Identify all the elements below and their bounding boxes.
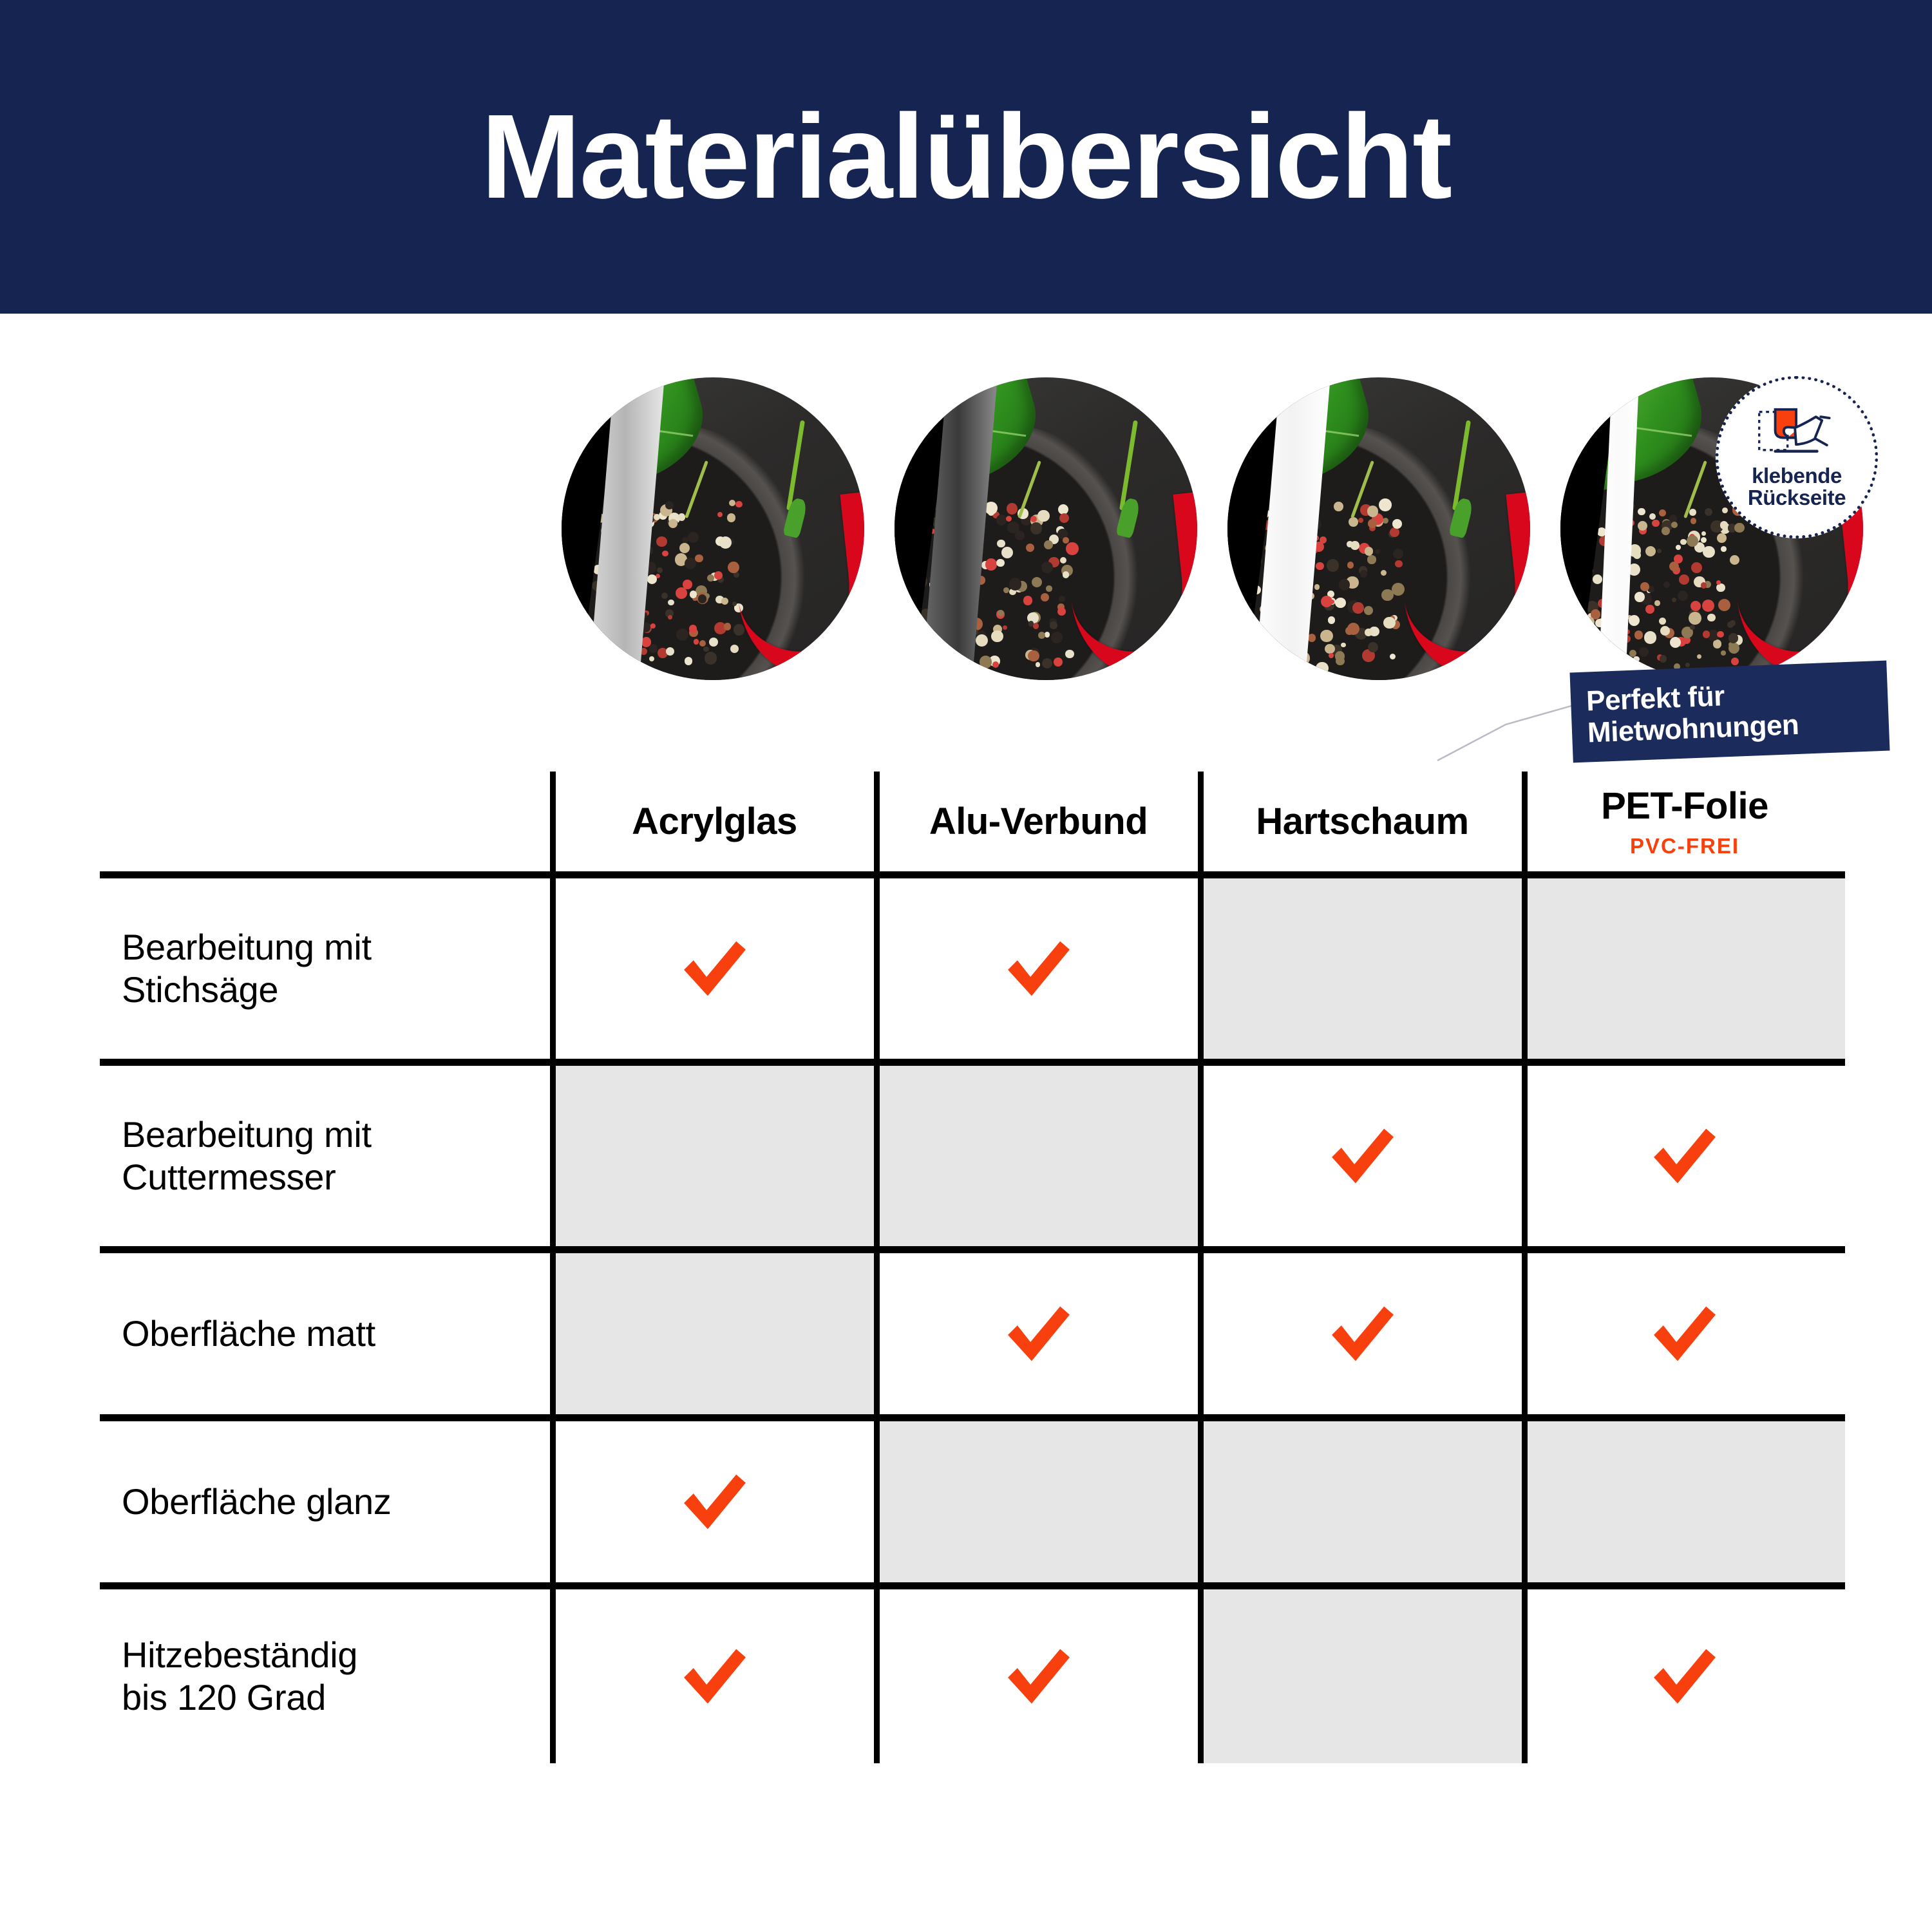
peppercorn <box>1030 522 1043 535</box>
peppercorn <box>1671 522 1678 528</box>
material-overview-page: Materialübersicht <box>0 0 1932 1932</box>
peppercorn <box>1003 587 1009 593</box>
table-divider <box>100 1414 1845 1421</box>
peppercorn <box>1336 657 1344 665</box>
table-row: Hitzebeständigbis 120 Grad <box>100 1589 1845 1763</box>
peppercorn <box>1690 625 1695 630</box>
peppercorn <box>1703 546 1714 558</box>
cell-r4-c3 <box>1200 1421 1524 1582</box>
peppercorn <box>665 501 674 509</box>
column-divider <box>1522 772 1528 1763</box>
peppercorn <box>1054 658 1063 667</box>
peppercorn <box>1051 632 1063 643</box>
peppercorn <box>1690 601 1701 611</box>
thumbnail-alu-verbund[interactable] <box>895 377 1197 680</box>
column-header-1: Acrylglas <box>553 772 876 871</box>
cell-r1-c4 <box>1524 878 1845 1059</box>
peppercorn <box>1585 649 1590 654</box>
peppercorn <box>1383 617 1395 629</box>
table-row: Oberfläche glanz <box>100 1421 1845 1582</box>
peppercorn <box>1721 546 1727 552</box>
header-corner-cell <box>100 772 553 871</box>
peppercorn <box>1365 547 1374 556</box>
peppercorn <box>1033 623 1039 629</box>
row-label-cell: Bearbeitung mitStichsäge <box>100 878 553 1059</box>
row-label-cell: Oberfläche matt <box>100 1253 553 1414</box>
peppercorn <box>1663 582 1670 588</box>
peppercorn <box>1365 629 1372 636</box>
peppercorn <box>1702 600 1714 612</box>
cell-r4-c4 <box>1524 1421 1845 1582</box>
peppercorn <box>1334 502 1343 511</box>
peppercorn <box>1685 663 1690 668</box>
peppercorn <box>647 574 657 584</box>
peppercorn <box>1705 508 1712 516</box>
peppercorn <box>1320 536 1327 544</box>
peppercorn <box>1639 647 1649 657</box>
peppercorn <box>996 559 1004 567</box>
peppercorn <box>732 601 737 606</box>
table-row: Oberfläche matt <box>100 1253 1845 1414</box>
cell-r5-c2 <box>876 1589 1200 1763</box>
peppercorn <box>1640 582 1649 591</box>
peppercorn <box>1717 533 1727 543</box>
peppercorn <box>699 640 706 647</box>
peppercorn <box>1634 630 1643 639</box>
peppercorn <box>1649 513 1656 520</box>
thumbnail-hartschaum[interactable] <box>1227 377 1530 680</box>
peppercorn <box>1316 662 1329 674</box>
peppercorn <box>1717 631 1723 638</box>
peppercorn <box>1327 559 1340 572</box>
cell-r1-c1 <box>553 878 876 1059</box>
peppercorn <box>1689 509 1696 515</box>
check-icon <box>1647 1296 1723 1372</box>
peppercorn <box>1023 596 1033 605</box>
peppercorn <box>1314 584 1320 590</box>
peppercorn <box>1352 602 1364 614</box>
peppercorn <box>1674 554 1683 563</box>
peppercorn <box>1335 598 1345 608</box>
peppercorn <box>707 574 714 582</box>
peppercorn <box>1701 531 1706 536</box>
peppercorn <box>1703 630 1710 638</box>
peppercorn <box>1690 518 1696 524</box>
check-icon <box>1001 1638 1077 1714</box>
peppercorn <box>1657 549 1662 553</box>
check-icon <box>1001 931 1077 1007</box>
peppercorn <box>654 514 660 520</box>
row-label-cell: Oberfläche glanz <box>100 1421 553 1582</box>
peppercorn <box>679 543 690 553</box>
row-label: Bearbeitung mitCuttermesser <box>122 1113 372 1198</box>
cell-r5-c4 <box>1524 1589 1845 1763</box>
peppercorn <box>991 630 1003 642</box>
row-label: Hitzebeständigbis 120 Grad <box>122 1634 357 1719</box>
peppercorn <box>694 639 699 645</box>
peppercorn <box>1028 650 1039 662</box>
column-divider <box>874 772 880 1763</box>
badge-line-2: Rückseite <box>1748 487 1846 509</box>
cell-r5-c3 <box>1200 1589 1524 1763</box>
peppercorn <box>1041 593 1049 601</box>
table-divider <box>100 1582 1845 1589</box>
peppercorn <box>1679 574 1689 585</box>
peppercorn <box>661 592 668 599</box>
peppercorn <box>1638 508 1645 516</box>
peppercorn <box>1582 659 1590 667</box>
peppercorn <box>1364 606 1373 615</box>
peppercorn <box>1329 653 1334 658</box>
check-icon <box>677 931 753 1007</box>
peppercorn <box>662 551 668 557</box>
peppercorn <box>685 558 697 570</box>
peppercorn <box>1691 562 1702 573</box>
peppercorn <box>1381 570 1387 576</box>
check-icon <box>1647 1118 1723 1194</box>
badge-line-1: klebende <box>1752 465 1842 487</box>
peppercorn <box>1375 549 1379 554</box>
peppercorn <box>1358 518 1363 523</box>
cell-r4-c2 <box>876 1421 1200 1582</box>
cell-r1-c3 <box>1200 878 1524 1059</box>
peppercorn <box>1660 655 1667 662</box>
peppercorn <box>1659 618 1666 625</box>
peppercorn <box>1037 510 1050 522</box>
peppercorn <box>1644 631 1657 644</box>
ribbon-perfekt-fuer-mietwohnungen: Perfekt für Mietwohnungen <box>1569 661 1889 763</box>
peppercorn <box>1383 518 1388 524</box>
peppercorn <box>1041 562 1053 573</box>
peppercorn <box>1060 557 1066 563</box>
peppercorn <box>992 661 999 668</box>
peppercorn <box>676 587 687 599</box>
peppercorn <box>1662 527 1670 535</box>
column-header-label: Hartschaum <box>1256 800 1468 843</box>
peppercorn <box>1006 516 1012 522</box>
peppercorn <box>649 644 658 653</box>
cell-r3-c4 <box>1524 1253 1845 1414</box>
peppercorn <box>1003 625 1007 630</box>
check-icon <box>677 1638 753 1714</box>
peppercorn <box>1028 621 1034 626</box>
peppercorn <box>709 638 718 647</box>
peppercorn <box>695 554 703 563</box>
peppercorn <box>717 512 723 517</box>
cell-r3-c1 <box>553 1253 876 1414</box>
peppercorn <box>1032 577 1042 587</box>
peppercorn <box>1678 591 1688 601</box>
peppercorn <box>1718 599 1730 611</box>
cell-r2-c2 <box>876 1066 1200 1246</box>
peppercorn <box>724 623 732 630</box>
peppercorn <box>1368 642 1378 652</box>
peppercorn <box>1349 517 1358 527</box>
peppercorn <box>996 515 1007 525</box>
page-title: Materialübersicht <box>481 97 1451 217</box>
cell-r3-c2 <box>876 1253 1200 1414</box>
row-label: Bearbeitung mitStichsäge <box>122 926 372 1011</box>
peppercorn <box>1659 509 1666 516</box>
peppercorn <box>650 623 656 629</box>
table-divider <box>100 871 1845 878</box>
peppercorn <box>1697 654 1701 659</box>
peppercorn <box>1059 596 1065 602</box>
check-icon <box>677 1464 753 1540</box>
peppercorn <box>685 657 693 665</box>
peppercorn <box>668 519 677 528</box>
page-header: Materialübersicht <box>0 0 1932 314</box>
thumbnail-acrylglas[interactable] <box>562 377 864 680</box>
check-icon <box>1325 1296 1401 1372</box>
peppercorn <box>1001 547 1013 558</box>
check-icon <box>1647 1638 1723 1714</box>
peppercorn <box>703 647 709 652</box>
check-icon <box>1001 1296 1077 1372</box>
footer-spacer <box>0 1829 1932 1932</box>
materials-comparison-table: AcrylglasAlu-VerbundHartschaumPET-FolieP… <box>100 772 1845 1763</box>
column-header-label: Acrylglas <box>632 800 797 843</box>
cell-r4-c1 <box>553 1421 876 1582</box>
cell-r2-c4 <box>1524 1066 1845 1246</box>
column-divider <box>550 772 556 1763</box>
peppercorn <box>1390 654 1396 659</box>
check-icon <box>1325 1118 1401 1194</box>
peppercorn <box>985 558 998 571</box>
column-header-label: Alu-Verbund <box>929 800 1148 843</box>
peppercorn <box>1381 589 1394 601</box>
peppercorn <box>1347 562 1354 568</box>
peppercorn <box>920 625 927 632</box>
peppercorn <box>1328 616 1336 624</box>
peppercorn <box>1672 598 1676 602</box>
peppercorn <box>1007 522 1019 533</box>
peppercorn <box>1316 562 1323 570</box>
peppercorn <box>1360 570 1368 578</box>
peppercorn <box>734 624 745 636</box>
peppercorn <box>1379 498 1392 511</box>
table-divider <box>100 1246 1845 1253</box>
peppercorn <box>1341 643 1346 648</box>
peppercorn <box>719 536 732 549</box>
peppercorn <box>1045 632 1050 638</box>
table-header-row: AcrylglasAlu-VerbundHartschaumPET-FolieP… <box>100 772 1845 871</box>
peppercorn <box>1057 607 1066 616</box>
column-divider <box>1198 772 1204 1763</box>
peppercorn <box>1728 633 1739 643</box>
ribbon-leader-line <box>1436 699 1584 763</box>
peppercorn <box>678 513 685 520</box>
peppercorn <box>1721 650 1725 655</box>
peppercorn <box>1007 503 1018 515</box>
peppercorn <box>1689 612 1701 625</box>
column-header-4: PET-FoliePVC-FREI <box>1524 772 1845 871</box>
row-label-cell: Hitzebeständigbis 120 Grad <box>100 1589 553 1763</box>
peppercorn <box>1645 546 1656 556</box>
column-header-3: Hartschaum <box>1200 772 1524 871</box>
peppercorn <box>1629 615 1640 626</box>
peppercorn <box>1350 541 1359 549</box>
peppercorn <box>721 598 728 605</box>
peppercorn <box>668 615 672 620</box>
cell-r2-c3 <box>1200 1066 1524 1246</box>
table-row: Bearbeitung mitCuttermesser <box>100 1066 1845 1246</box>
peppercorn <box>1044 540 1053 549</box>
peppercorn <box>1713 639 1722 649</box>
peppercorn <box>1320 630 1332 642</box>
peppercorn <box>1633 656 1639 662</box>
peppercorn <box>641 637 651 647</box>
peppercorn <box>649 656 655 662</box>
peppercorn <box>1727 621 1734 629</box>
peppercorn <box>1042 658 1052 668</box>
peppercorn <box>1731 658 1739 666</box>
peppercorn <box>1065 650 1074 658</box>
peppercorn <box>683 580 692 589</box>
peppercorn <box>976 634 988 647</box>
peppercorn <box>1676 545 1681 550</box>
badge-klebende-rueckseite: klebende Rückseite <box>1716 376 1878 538</box>
peppercorn <box>1030 516 1037 522</box>
peppercorn <box>1645 605 1654 614</box>
peppercorn <box>1339 579 1350 591</box>
row-label-cell: Bearbeitung mitCuttermesser <box>100 1066 553 1246</box>
peppercorn <box>1368 519 1377 528</box>
peppercorn <box>1593 574 1602 584</box>
column-header-sublabel: PVC-FREI <box>1630 834 1739 858</box>
row-label: Oberfläche matt <box>122 1312 375 1355</box>
peppercorn <box>656 536 667 547</box>
peppercorn <box>676 629 688 641</box>
row-label: Oberfläche glanz <box>122 1481 392 1523</box>
peppercorn <box>1036 662 1041 667</box>
peppercorn <box>1654 600 1660 606</box>
peppercorn <box>1728 643 1739 654</box>
peppercorn <box>1660 626 1670 636</box>
peppercorn <box>997 540 1005 547</box>
peppercorn <box>1046 585 1052 591</box>
table-divider <box>100 1059 1845 1066</box>
peppercorn <box>1325 644 1335 654</box>
peppercorn <box>1652 520 1659 527</box>
peppercorn <box>1038 632 1045 639</box>
peppercorn <box>1720 521 1728 529</box>
peppercorn <box>980 656 992 668</box>
peppercorn <box>1009 578 1022 591</box>
cell-r2-c1 <box>553 1066 876 1246</box>
cell-r5-c1 <box>553 1589 876 1763</box>
peppercorn <box>1701 582 1707 589</box>
column-header-2: Alu-Verbund <box>876 772 1200 871</box>
peppercorn <box>690 591 697 598</box>
peppercorn <box>1680 539 1686 545</box>
peppercorn <box>666 647 674 656</box>
cell-r3-c3 <box>1200 1253 1524 1414</box>
peppercorn <box>730 645 739 653</box>
peppercorn <box>1308 634 1316 642</box>
peppercorn <box>668 600 674 606</box>
peppercorn <box>1707 614 1715 621</box>
peppercorn <box>1026 544 1034 552</box>
peel-sticker-hand-icon <box>1756 406 1837 461</box>
peppercorn <box>689 625 697 633</box>
peppercorn <box>1050 621 1057 629</box>
peppercorn <box>705 652 717 665</box>
peppercorn <box>688 532 699 543</box>
peppercorn <box>1367 555 1376 563</box>
peppercorn <box>657 567 662 573</box>
column-header-label: PET-Folie <box>1601 784 1768 828</box>
cell-r1-c2 <box>876 878 1200 1059</box>
peppercorn <box>714 571 723 580</box>
table-row: Bearbeitung mitStichsäge <box>100 878 1845 1059</box>
peppercorn <box>1367 506 1379 517</box>
